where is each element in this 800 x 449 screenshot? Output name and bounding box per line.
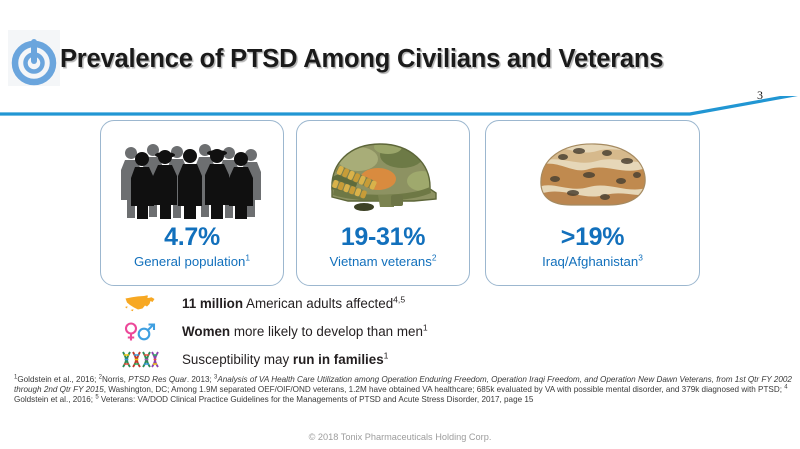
usa-map-icon xyxy=(118,291,162,315)
bullet-rest: run in families xyxy=(293,352,384,367)
stat-value: 19-31% xyxy=(297,224,469,250)
crowd-silhouette-icon xyxy=(101,129,283,225)
header-accent-rule xyxy=(0,96,800,120)
footnote-text-1: Goldstein et al., 2016; xyxy=(17,375,98,384)
slide-header: Prevalence of PTSD Among Civilians and V… xyxy=(0,0,800,100)
stat-label-text: Iraq/Afghanistan xyxy=(542,254,638,269)
bullet-item-gender: Women more likely to develop than men1 xyxy=(118,318,678,344)
stat-label: General population1 xyxy=(101,254,283,269)
stat-footnote-ref: 3 xyxy=(638,253,643,263)
stat-label-text: Vietnam veterans xyxy=(329,254,431,269)
stat-label: Iraq/Afghanistan3 xyxy=(486,254,699,269)
bullet-lead: Susceptibility may xyxy=(182,352,293,367)
desert-helmet-icon xyxy=(486,129,699,225)
stat-label-text: General population xyxy=(134,254,245,269)
page-number: 3 xyxy=(757,88,763,103)
footnote-text-2: Norris, xyxy=(102,375,128,384)
vietnam-helmet-icon xyxy=(297,129,469,225)
stat-label: Vietnam veterans2 xyxy=(297,254,469,269)
stat-card-row: 4.7% General population1 xyxy=(0,120,800,288)
bullet-footnote-ref: 1 xyxy=(384,350,389,360)
footnote-block: 1Goldstein et al., 2016; 2Norris, PTSD R… xyxy=(14,375,792,405)
footnote-text-5: Goldstein et al., 2016; xyxy=(14,395,95,404)
bullet-text: Women more likely to develop than men1 xyxy=(182,324,428,339)
bullet-rest: American adults affected xyxy=(243,296,393,311)
tonix-power-logo-icon xyxy=(8,30,60,86)
footnote-text-3: . 2013; xyxy=(187,375,214,384)
gender-symbols-icon xyxy=(118,319,162,343)
bullet-item-heritability: Susceptibility may run in families1 xyxy=(118,346,678,372)
page-title: Prevalence of PTSD Among Civilians and V… xyxy=(60,45,663,74)
bullet-item-prevalence: 11 million American adults affected4,5 xyxy=(118,290,678,316)
stat-value: >19% xyxy=(486,224,699,250)
footnote-text-6: Veterans: VA/DOD Clinical Practice Guide… xyxy=(99,395,534,404)
bullet-rest: more likely to develop than men xyxy=(230,324,423,339)
footnote-ref-4: 4 xyxy=(784,384,787,390)
bullet-lead: 11 million xyxy=(182,296,243,311)
stat-footnote-ref: 2 xyxy=(432,253,437,263)
dna-helix-icon xyxy=(118,347,162,371)
footnote-text-4: , Washington, DC; Among 1.9M separated O… xyxy=(104,385,784,394)
stat-footnote-ref: 1 xyxy=(245,253,250,263)
bullet-footnote-ref: 4,5 xyxy=(393,294,405,304)
copyright-notice: © 2018 Tonix Pharmaceuticals Holding Cor… xyxy=(0,432,800,442)
stat-card-vietnam-veterans: 19-31% Vietnam veterans2 xyxy=(296,120,470,286)
bullet-lead: Women xyxy=(182,324,230,339)
footnote-italic-1: PTSD Res Quar xyxy=(128,375,187,384)
stat-value: 4.7% xyxy=(101,224,283,250)
stat-card-general-population: 4.7% General population1 xyxy=(100,120,284,286)
bullet-list: 11 million American adults affected4,5 W… xyxy=(118,290,678,374)
bullet-text: 11 million American adults affected4,5 xyxy=(182,296,405,311)
stat-card-iraq-afghanistan: >19% Iraq/Afghanistan3 xyxy=(485,120,700,286)
bullet-text: Susceptibility may run in families1 xyxy=(182,352,388,367)
bullet-footnote-ref: 1 xyxy=(423,322,428,332)
